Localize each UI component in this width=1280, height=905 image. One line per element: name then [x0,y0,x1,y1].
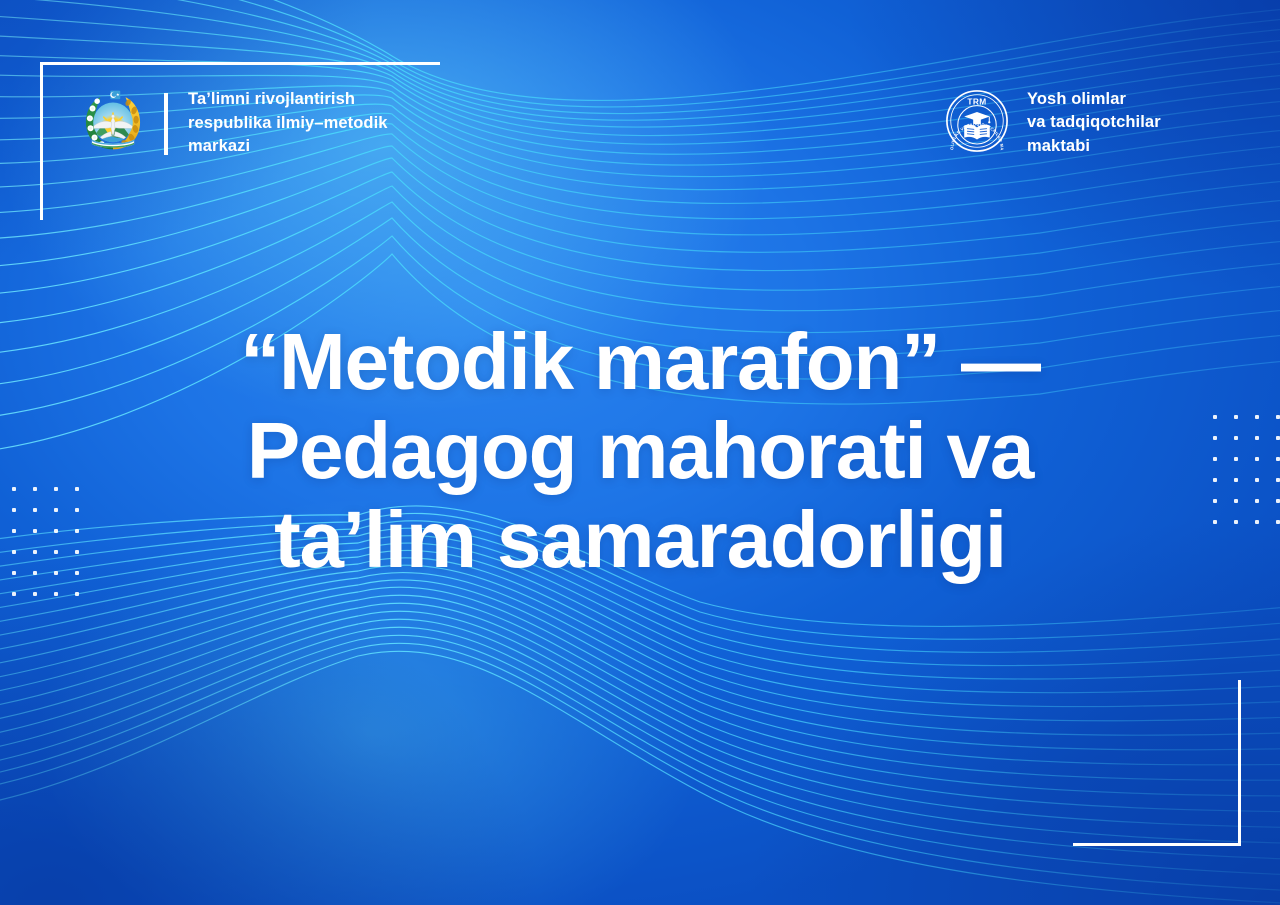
page-title: “Metodik marafon” — Pedagog mahorati va … [0,318,1280,584]
uzbekistan-state-emblem-icon [80,88,146,159]
bracket-horizontal-line [1073,843,1241,846]
decorative-dot [75,592,79,596]
decorative-dot [54,592,58,596]
svg-text:TRM: TRM [967,96,986,106]
bracket-vertical-line [40,62,43,220]
trm-school-seal-icon: TRM [945,89,1009,158]
right-organization-lockup: TRM [945,88,1161,158]
corner-bracket-bottom-right [1073,680,1241,846]
left-organization-name: Ta’limni rivojlantirish respublika ilmiy… [188,88,388,158]
right-organization-name: Yosh olimlar va tadqiqotchilar maktabi [1027,88,1161,158]
left-organization-lockup: Ta’limni rivojlantirish respublika ilmiy… [80,88,388,159]
bracket-horizontal-line [40,62,440,65]
decorative-dot [12,592,16,596]
logo-divider-bar [164,93,168,155]
presentation-banner: Ta’limni rivojlantirish respublika ilmiy… [0,0,1280,905]
bracket-vertical-line [1238,680,1241,846]
decorative-dot [33,592,37,596]
